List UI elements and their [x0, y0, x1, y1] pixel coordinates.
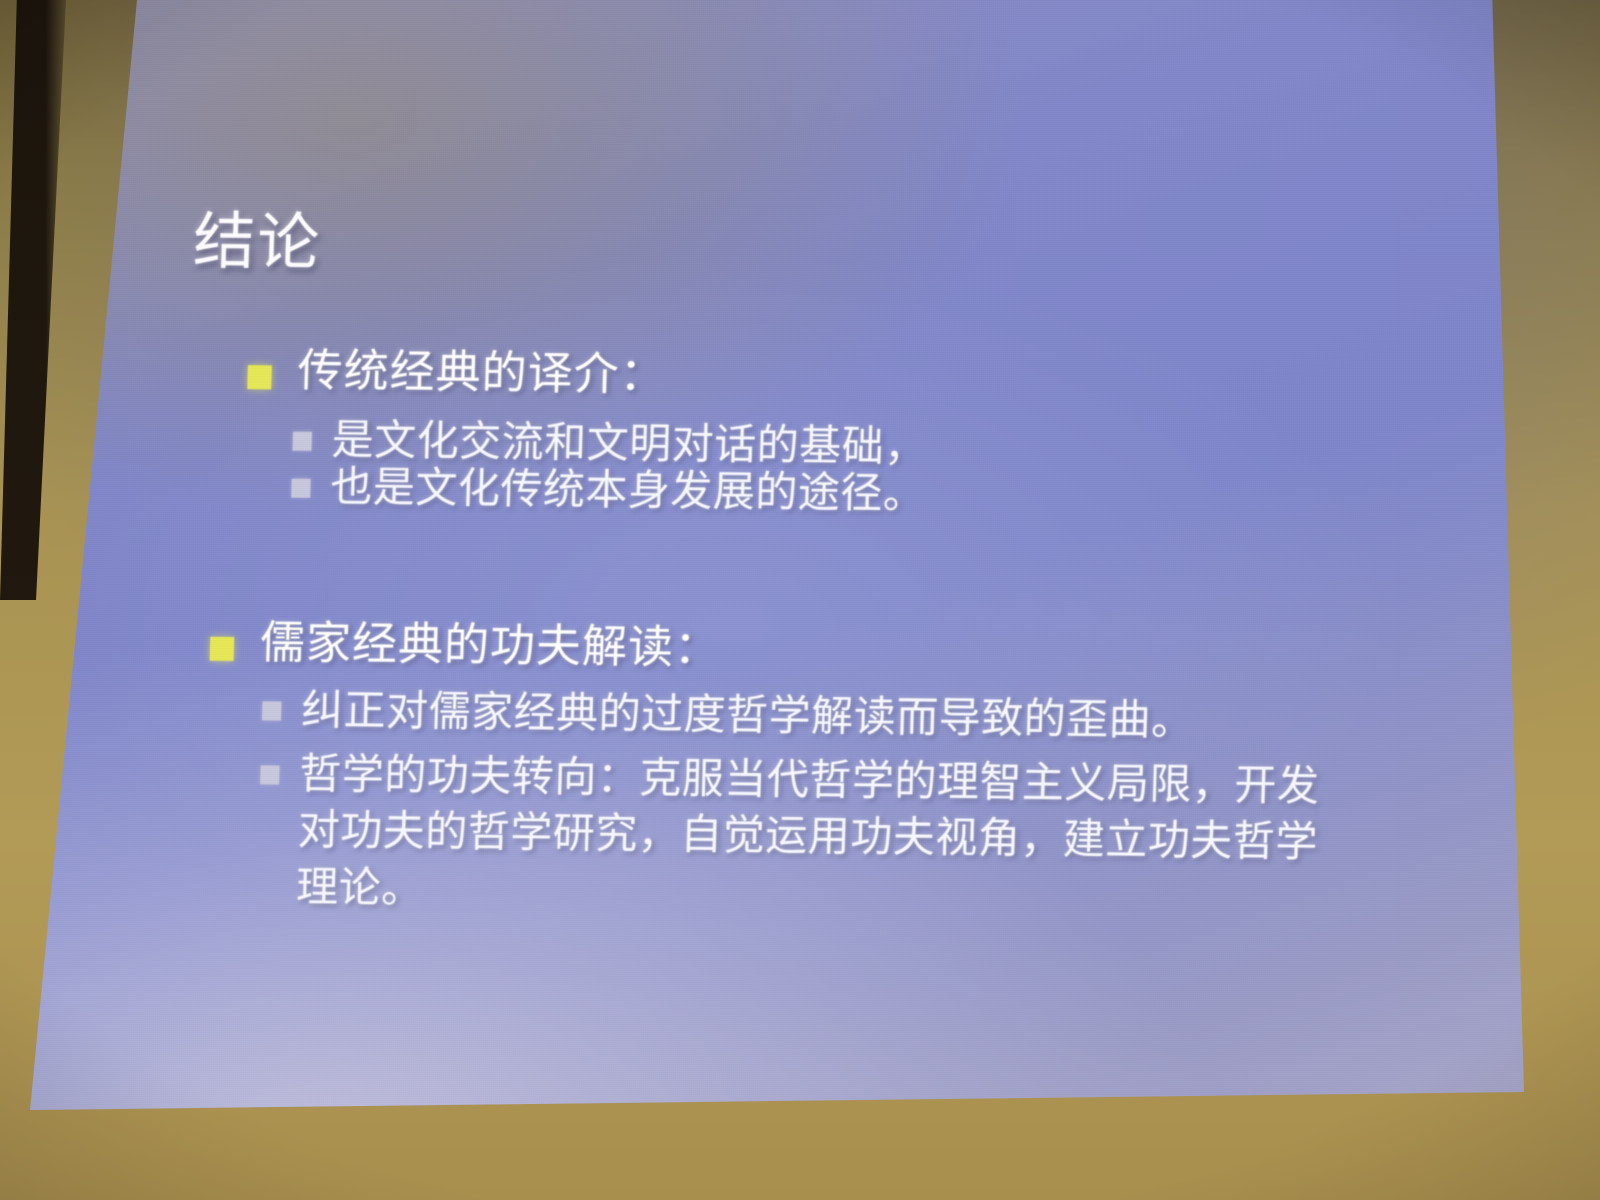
bullet-level1-label: 儒家经典的功夫解读： — [259, 615, 721, 674]
bullet-level1: 儒家经典的功夫解读： — [209, 615, 721, 674]
gray-square-bullet-icon — [262, 701, 282, 720]
bullet-level2-label: 也是文化传统本身发展的途径。 — [330, 459, 927, 522]
yellow-square-bullet-icon — [247, 365, 272, 389]
yellow-square-bullet-icon — [210, 637, 235, 661]
bullet-level2-label: 哲学的功夫转向：克服当代哲学的理智主义局限，开发对功夫的哲学研究，自觉运用功夫视… — [295, 746, 1321, 927]
projected-slide-photo: 结论 传统经典的译介： 是文化交流和文明对话的基础， 也是文化传统本身发展的途径… — [0, 0, 1600, 1200]
bullet-level2: 哲学的功夫转向：克服当代哲学的理智主义局限，开发对功夫的哲学研究，自觉运用功夫视… — [256, 745, 1321, 927]
bullet-level2: 也是文化传统本身发展的途径。 — [291, 459, 927, 523]
slide-title: 结论 — [192, 210, 322, 274]
gray-square-bullet-icon — [260, 765, 280, 784]
projection-screen: 结论 传统经典的译介： 是文化交流和文明对话的基础， 也是文化传统本身发展的途径… — [0, 0, 1600, 1200]
gray-square-bullet-icon — [292, 432, 312, 451]
bullet-level1-label: 传统经典的译介： — [297, 344, 667, 402]
bullet-level2-label: 纠正对儒家经典的过度哲学解读而导致的歪曲。 — [300, 682, 1194, 749]
gray-square-bullet-icon — [291, 479, 311, 498]
bullet-level2: 纠正对儒家经典的过度哲学解读而导致的歪曲。 — [261, 681, 1194, 748]
bullet-level1: 传统经典的译介： — [247, 343, 667, 401]
slide-content: 结论 传统经典的译介： 是文化交流和文明对话的基础， 也是文化传统本身发展的途径… — [0, 0, 1600, 1200]
